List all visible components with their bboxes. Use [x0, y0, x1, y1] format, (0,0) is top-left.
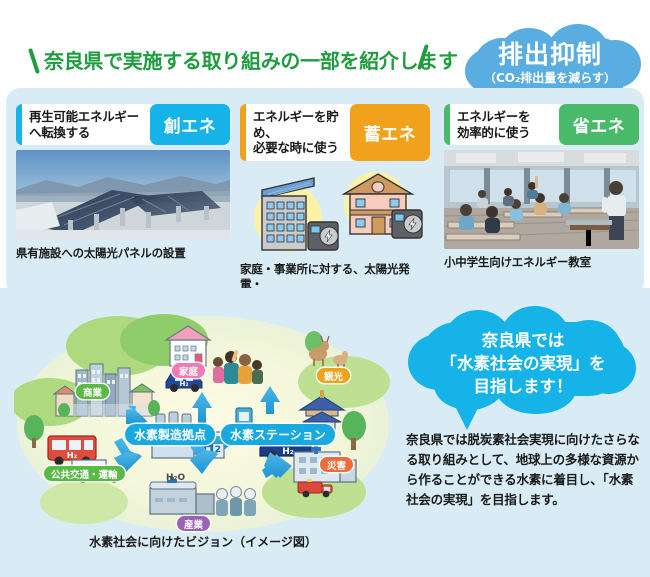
- card-2-pill: 蓄エネ: [350, 104, 430, 161]
- diagram-label-industry: 産業: [177, 516, 210, 531]
- card-energy-saving: エネルギーを 効率的に使う 省エネ: [444, 104, 639, 270]
- svg-text:H₂: H₂: [282, 447, 294, 457]
- card-1-heading: 再生可能エネルギー へ転換する: [22, 104, 150, 145]
- emission-reduction-cloud-badge: 排出抑制 （CO₂排出量を減らす）: [455, 22, 645, 104]
- hydrogen-society-bubble: 奈良県では 「水素社会の実現」を 目指します！: [404, 304, 642, 426]
- diagram-label-disaster: 災害: [320, 457, 353, 472]
- building-house-battery-illustration: [240, 166, 430, 256]
- diagram-caption: 水素社会に向けたビジョン（イメージ図）: [14, 533, 392, 550]
- diagram-label-tourism: 観光: [317, 368, 350, 383]
- svg-text:H₂: H₂: [180, 380, 189, 388]
- card-3-header: エネルギーを 効率的に使う 省エネ: [444, 104, 639, 145]
- diagram-label-hydrogen-station: 水素ステーション: [221, 424, 335, 445]
- cloud-badge-text: 排出抑制 （CO₂排出量を減らす）: [455, 22, 645, 104]
- cloud-badge-subtitle: （CO₂排出量を減らす）: [484, 70, 616, 86]
- card-2-header: エネルギーを貯め、 必要な時に使う 蓄エネ: [240, 104, 430, 161]
- card-storage-energy: エネルギーを貯め、 必要な時に使う 蓄エネ: [240, 104, 430, 307]
- diagram-label-public-transport: 公共交通・運輸: [44, 466, 125, 481]
- diagram-label-household: 家庭: [172, 363, 205, 378]
- hydrogen-vision-diagram-svg: H₂ H₂: [14, 306, 392, 538]
- card-1-pill: 創エネ: [150, 104, 230, 145]
- card-1-caption: 県有施設への太陽光パネルの設置: [16, 246, 230, 261]
- hydrogen-vision-diagram: H₂ H₂: [14, 306, 392, 538]
- card-3-caption: 小中学生向けエネルギー教室: [444, 255, 639, 270]
- svg-text:H₂O: H₂O: [166, 473, 185, 483]
- infographic-page: 奈良県で実施する取り組みの一部を紹介します 排出抑制 （CO₂排出量を減らす） …: [0, 0, 650, 577]
- energy-classroom-photo-svg: [444, 150, 639, 249]
- bubble-text: 奈良県では 「水素社会の実現」を 目指します！: [404, 304, 642, 422]
- bubble-line-2: 「水素社会の実現」を: [441, 352, 606, 375]
- solar-panel-rooftop-photo: [16, 150, 230, 240]
- bubble-line-1: 奈良県では: [482, 329, 565, 352]
- building-house-battery-svg: [240, 166, 430, 256]
- solar-panel-rooftop-photo-svg: [16, 150, 230, 240]
- svg-text:H₂: H₂: [67, 451, 78, 460]
- card-3-heading: エネルギーを 効率的に使う: [450, 104, 559, 145]
- energy-classroom-photo: [444, 150, 639, 249]
- hydrogen-body-copy: 奈良県では脱炭素社会実現に向けたさらなる取り組みとして、地球上の多様な資源から作…: [406, 430, 642, 510]
- card-3-pill: 省エネ: [559, 104, 639, 145]
- cloud-badge-title: 排出抑制: [498, 41, 602, 69]
- card-2-heading: エネルギーを貯め、 必要な時に使う: [246, 104, 350, 161]
- diagram-label-hydrogen-production-base: 水素製造拠点: [125, 424, 215, 445]
- diagram-label-commercial: 商業: [76, 384, 109, 399]
- bubble-line-3: 目指します！: [474, 375, 573, 398]
- card-renewable-energy: 再生可能エネルギー へ転換する 創エネ: [16, 104, 230, 261]
- page-title: 奈良県で実施する取り組みの一部を紹介します: [44, 44, 424, 78]
- card-1-header: 再生可能エネルギー へ転換する 創エネ: [16, 104, 230, 145]
